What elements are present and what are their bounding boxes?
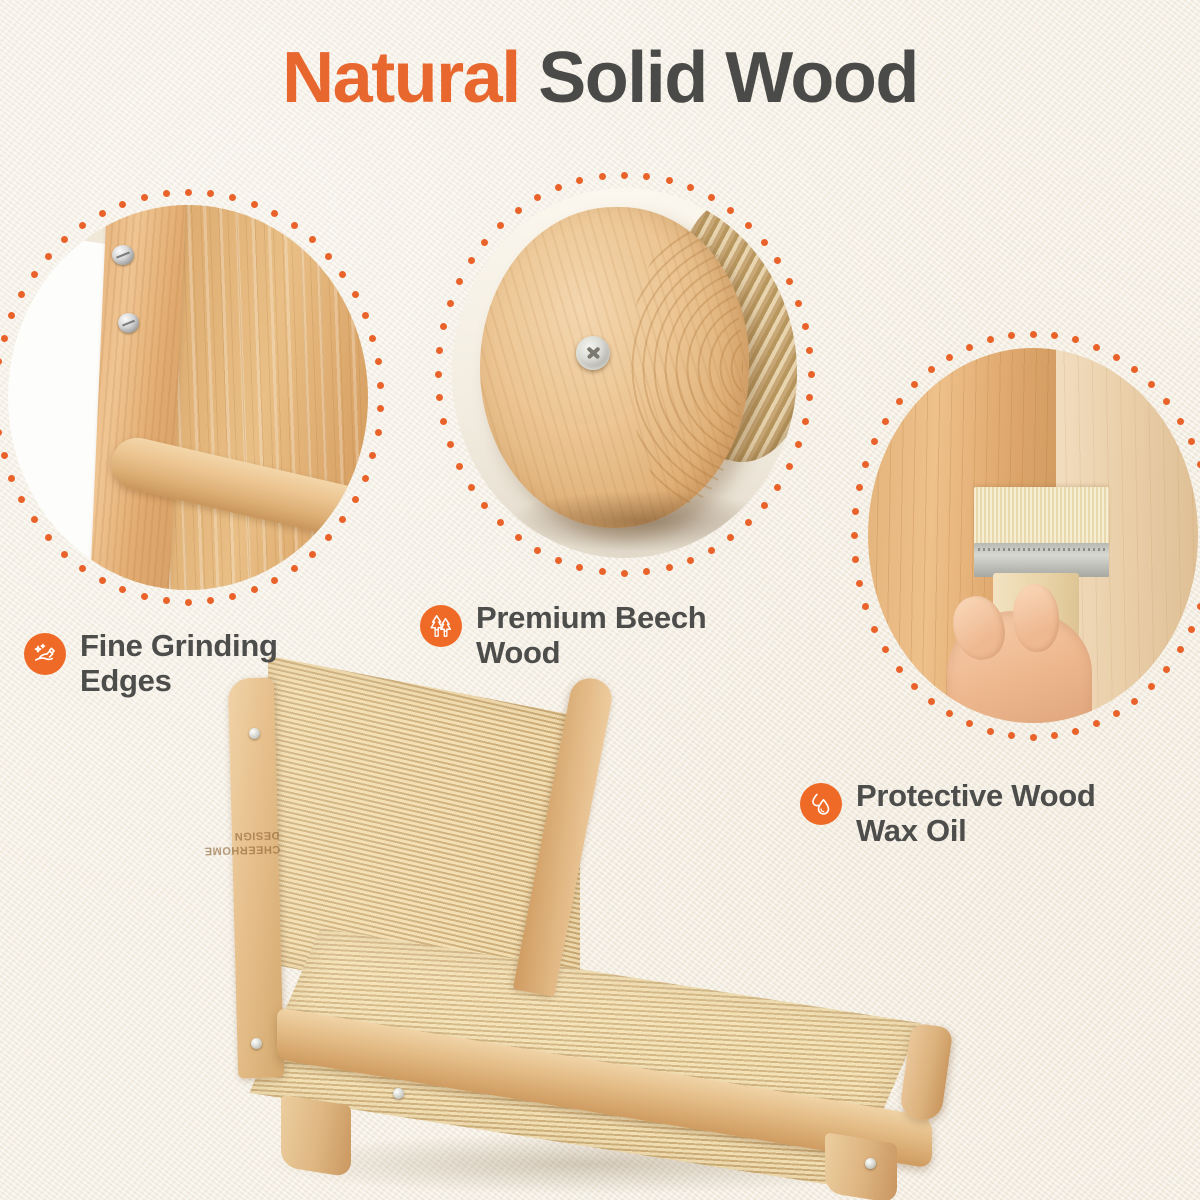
feature-fine-grinding-edges: Fine Grinding Edges (24, 628, 278, 699)
product-foot-right (825, 1132, 897, 1200)
title-word-solid-wood: Solid Wood (538, 38, 918, 118)
product-screw-top-left (249, 728, 260, 739)
photo-circle-fine-grinding-edges (8, 205, 368, 590)
feature-protective-wood-wax-oil: Protective Wood Wax Oil (800, 778, 1096, 849)
product-screw-bottom-left (251, 1038, 262, 1049)
photo3-brush-ferrule (974, 543, 1109, 577)
infographic-canvas: Natural Solid Wood (0, 0, 1200, 1200)
product-screw-front-right (865, 1158, 876, 1169)
photo2-wood-end-cap (480, 207, 749, 529)
feature-label-premium-beech-wood: Premium Beech Wood (476, 600, 706, 671)
feature-label-fine-grinding-edges: Fine Grinding Edges (80, 628, 278, 699)
photo-circle-premium-beech-wood (452, 188, 797, 558)
photo-circle-protective-wood-wax-oil (868, 348, 1198, 723)
water-droplets-icon (800, 783, 842, 825)
photo2-grain-rings (630, 232, 743, 502)
feature-premium-beech-wood: Premium Beech Wood (420, 600, 706, 671)
photo2-phillips-screw (576, 336, 610, 370)
photo3-brush-bristles (974, 487, 1109, 547)
product-brand-engraving: CHEERHOME DESIGN (234, 827, 281, 856)
feature-label-protective-wood-wax-oil: Protective Wood Wax Oil (856, 778, 1096, 849)
photo1-screw-lower (118, 313, 139, 333)
product-screw-front-center (393, 1088, 404, 1099)
pine-trees-icon (420, 605, 462, 647)
photo2-drop-shadow (507, 491, 776, 550)
title-word-natural: Natural (282, 38, 520, 118)
product-foot-left (281, 1094, 351, 1177)
polish-sparkle-icon (24, 633, 66, 675)
product-image-cat-scratcher-lounger: CHEERHOME DESIGN (225, 670, 965, 1200)
page-title: Natural Solid Wood (0, 42, 1200, 114)
